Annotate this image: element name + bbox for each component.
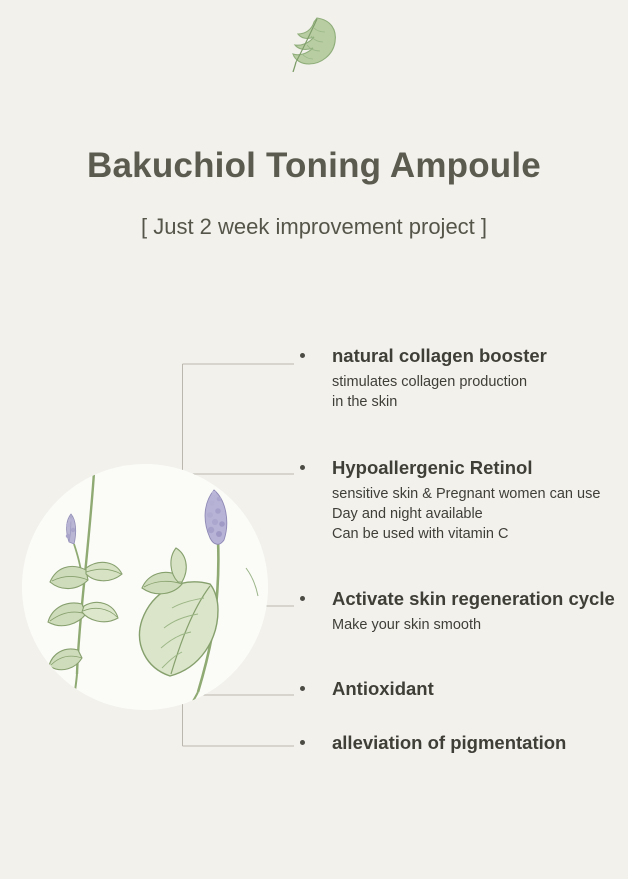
bullet-dot-icon: [300, 686, 305, 691]
bullet-dot-icon: [300, 465, 305, 470]
feature-detail: sensitive skin & Pregnant women can use: [332, 484, 620, 504]
feature-heading: natural collagen booster: [332, 344, 620, 368]
page-subtitle: [ Just 2 week improvement project ]: [0, 214, 628, 240]
feature-detail: Can be used with vitamin C: [332, 524, 620, 544]
feature-heading: alleviation of pigmentation: [332, 731, 620, 755]
product-info-page: Bakuchiol Toning Ampoule [ Just 2 week i…: [0, 0, 628, 879]
list-item: alleviation of pigmentation: [300, 731, 620, 755]
feature-detail: in the skin: [332, 392, 620, 412]
feature-detail: Make your skin smooth: [332, 615, 620, 635]
feature-detail: stimulates collagen production: [332, 372, 620, 392]
feature-detail: Day and night available: [332, 504, 620, 524]
list-item: Antioxidant: [300, 677, 620, 701]
list-item: Activate skin regeneration cycle Make yo…: [300, 587, 620, 635]
list-item: Hypoallergenic Retinol sensitive skin & …: [300, 456, 620, 544]
bullet-dot-icon: [300, 596, 305, 601]
leaf-icon: [287, 14, 341, 72]
feature-heading: Antioxidant: [332, 677, 620, 701]
bullet-dot-icon: [300, 353, 305, 358]
page-title: Bakuchiol Toning Ampoule: [0, 146, 628, 186]
botanical-illustration: [22, 464, 268, 710]
list-item: natural collagen booster stimulates coll…: [300, 344, 620, 412]
feature-heading: Hypoallergenic Retinol: [332, 456, 620, 480]
feature-heading: Activate skin regeneration cycle: [332, 587, 620, 611]
bullet-dot-icon: [300, 740, 305, 745]
feature-list: natural collagen booster stimulates coll…: [300, 344, 620, 755]
